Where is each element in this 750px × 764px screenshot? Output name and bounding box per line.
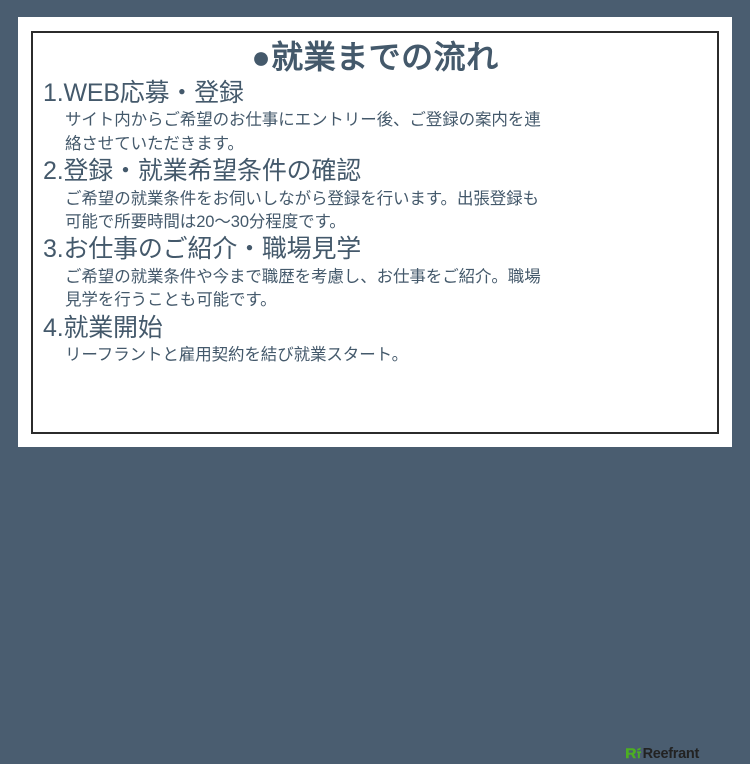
step-heading-4: 4.就業開始: [43, 313, 707, 345]
step-heading-3: 3.お仕事のご紹介・職場見学: [43, 234, 707, 266]
poster-outer-frame: ●就業までの流れ 1.WEB応募・登録 サイト内からご希望のお仕事にエントリー後…: [0, 0, 750, 464]
poster-content: ●就業までの流れ 1.WEB応募・登録 サイト内からご希望のお仕事にエントリー後…: [31, 31, 719, 434]
step-body-1: サイト内からご希望のお仕事にエントリー後、ご登録の案内を連 絡させていただきます…: [65, 109, 707, 156]
step-body-line: 絡させていただきます。: [65, 133, 707, 156]
page-title: ●就業までの流れ: [43, 39, 707, 77]
step-body-line: ご希望の就業条件をお伺いしながら登録を行います。出張登録も: [65, 188, 707, 211]
step-item-3: 3.お仕事のご紹介・職場見学 ご希望の就業条件や今まで職歴を考慮し、お仕事をご紹…: [43, 234, 707, 312]
brand-logo-text: Reefrant: [643, 747, 699, 762]
reefrant-r-mark-icon: [625, 747, 642, 763]
step-body-4: リーフラントと雇用契約を結び就業スタート。: [65, 344, 707, 367]
poster-card: ●就業までの流れ 1.WEB応募・登録 サイト内からご希望のお仕事にエントリー後…: [18, 17, 732, 447]
step-body-2: ご希望の就業条件をお伺いしながら登録を行います。出張登録も 可能で所要時間は20…: [65, 188, 707, 235]
step-body-line: サイト内からご希望のお仕事にエントリー後、ご登録の案内を連: [65, 109, 707, 132]
step-item-1: 1.WEB応募・登録 サイト内からご希望のお仕事にエントリー後、ご登録の案内を連…: [43, 78, 707, 156]
step-heading-1: 1.WEB応募・登録: [43, 78, 707, 110]
step-item-4: 4.就業開始 リーフラントと雇用契約を結び就業スタート。: [43, 313, 707, 368]
brand-logo: Reefrant: [625, 746, 699, 764]
step-body-line: リーフラントと雇用契約を結び就業スタート。: [65, 344, 707, 367]
step-heading-2: 2.登録・就業希望条件の確認: [43, 156, 707, 188]
step-body-line: ご希望の就業条件や今まで職歴を考慮し、お仕事をご紹介。職場: [65, 266, 707, 289]
step-body-3: ご希望の就業条件や今まで職歴を考慮し、お仕事をご紹介。職場 見学を行うことも可能…: [65, 266, 707, 313]
step-body-line: 見学を行うことも可能です。: [65, 289, 707, 312]
step-body-line: 可能で所要時間は20～30分程度です。: [65, 211, 707, 234]
step-item-2: 2.登録・就業希望条件の確認 ご希望の就業条件をお伺いしながら登録を行います。出…: [43, 156, 707, 234]
